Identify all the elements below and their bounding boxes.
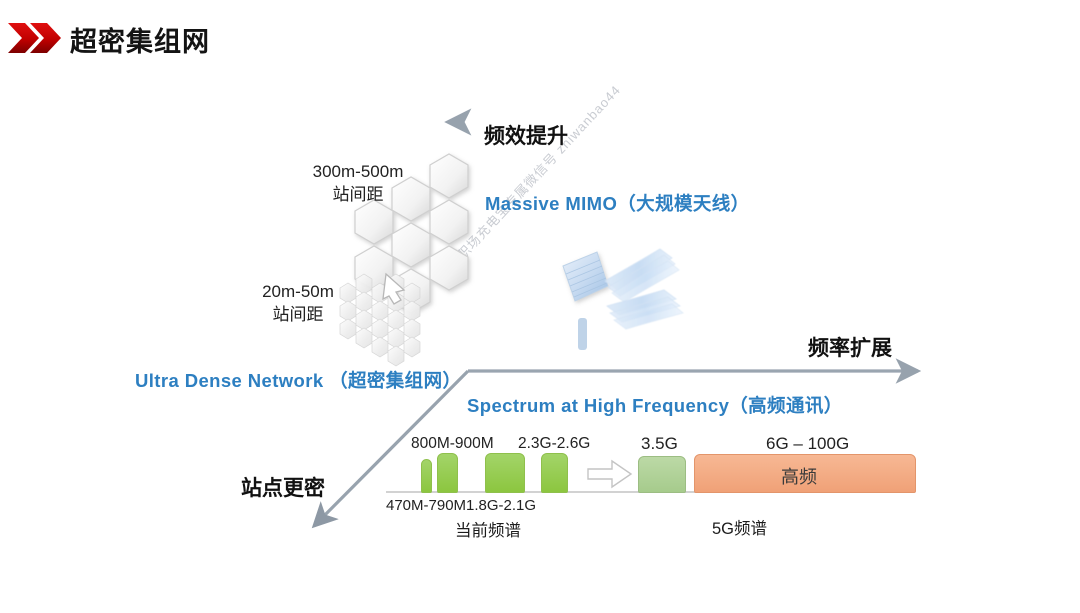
spectrum-bar-2300m-2600m xyxy=(541,453,568,493)
spectrum-group-label-current: 当前频谱 xyxy=(455,517,521,541)
spectrum-bar-470m-790m xyxy=(421,459,432,493)
spectrum-label-6g-100g: 6G – 100G xyxy=(766,434,849,454)
spectrum-label-470m-790m: 470M-790M xyxy=(386,497,466,514)
spectrum-bar-1800m-2100m xyxy=(485,453,525,493)
spectrum-label-800m-900m: 800M-900M xyxy=(411,435,494,453)
spectrum-label-1-8g-2-1g: 1.8G-2.1G xyxy=(466,497,536,514)
spectrum-bar-6g-100g-label: 高频 xyxy=(781,463,817,489)
spectrum-bar-800m-900m xyxy=(437,453,458,493)
spectrum-bar-3-5g xyxy=(638,456,686,493)
spectrum-label-2-3g-2-6g: 2.3G-2.6G xyxy=(518,435,590,453)
spectrum-label-3-5g: 3.5G xyxy=(641,434,678,454)
transition-arrow-icon xyxy=(586,458,636,490)
spectrum-group-label-5g: 5G频谱 xyxy=(712,515,767,539)
spectrum-chart: 高频 800M-900M 2.3G-2.6G 3.5G 6G – 100G 47… xyxy=(0,0,1080,613)
